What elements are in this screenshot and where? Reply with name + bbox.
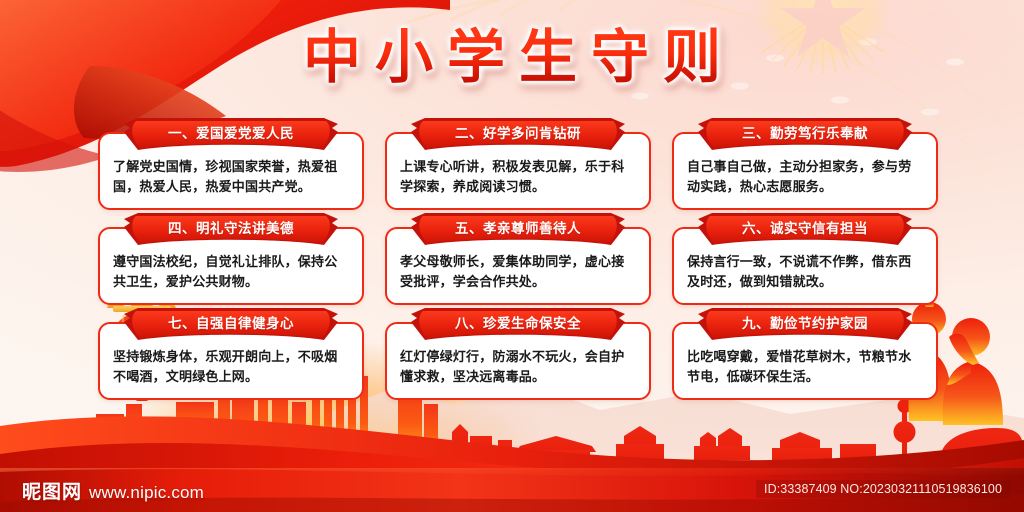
rule-card-8[interactable]: 八、珍爱生命保安全 红灯停绿灯行，防溺水不玩火，会自护懂求救，坚决远离毒品。 [385,322,651,400]
rule-card-6[interactable]: 六、诚实守信有担当 保持言行一致，不说谎不作弊，借东西及时还，做到知错就改。 [672,227,938,305]
poster-title-container: 中小学生守则 [0,24,1024,96]
rule-banner-1: 一、爱国爱党爱人民 [136,121,326,147]
rule-body-4: 遵守国法校纪，自觉礼让排队，保持公共卫生，爱护公共财物。 [113,253,349,293]
rule-body-1: 了解党史国情，珍视国家荣誉，热爱祖国，热爱人民，热爱中国共产党。 [113,158,349,198]
rule-card-2[interactable]: 二、好学多问肯钻研 上课专心听讲，积极发表见解，乐于科学探索，养成阅读习惯。 [385,132,651,210]
rule-card-5[interactable]: 五、孝亲尊师善待人 孝父母敬师长，爱集体助同学，虚心接受批评，学会合作共处。 [385,227,651,305]
rule-body-8: 红灯停绿灯行，防溺水不玩火，会自护懂求救，坚决远离毒品。 [400,348,636,388]
site-brand[interactable]: 昵图网 www.nipic.com [22,477,204,504]
page-title: 中小学生守则 [279,24,745,96]
brand-url: www.nipic.com [89,483,204,503]
poster-canvas: 中小学生守则 一、爱国爱党爱人民 了解党史国情，珍视国家荣誉，热爱祖国，热爱人民… [0,0,1024,512]
rule-banner-9: 九、勤俭节约护家园 [710,311,900,337]
rule-heading-5: 五、孝亲尊师善待人 [423,216,613,242]
rule-body-5: 孝父母敬师长，爱集体助同学，虚心接受批评，学会合作共处。 [400,253,636,293]
rule-card-3[interactable]: 三、勤劳笃行乐奉献 自己事自己做，主动分担家务，参与劳动实践，热心志愿服务。 [672,132,938,210]
rule-card-4[interactable]: 四、明礼守法讲美德 遵守国法校纪，自觉礼让排队，保持公共卫生，爱护公共财物。 [98,227,364,305]
rule-heading-3: 三、勤劳笃行乐奉献 [710,121,900,147]
rule-body-9: 比吃喝穿戴，爱惜花草树木，节粮节水节电，低碳环保生活。 [687,348,923,388]
rule-banner-3: 三、勤劳笃行乐奉献 [710,121,900,147]
rule-banner-2: 二、好学多问肯钻研 [423,121,613,147]
rule-banner-6: 六、诚实守信有担当 [710,216,900,242]
rule-body-6: 保持言行一致，不说谎不作弊，借东西及时还，做到知错就改。 [687,253,923,293]
brand-name-cn: 昵图网 [22,477,82,504]
rule-banner-4: 四、明礼守法讲美德 [136,216,326,242]
rule-heading-8: 八、珍爱生命保安全 [423,311,613,337]
footer-bar: 昵图网 www.nipic.com ID:33387409 NO:2023032… [0,468,1024,512]
rule-heading-2: 二、好学多问肯钻研 [423,121,613,147]
rule-card-1[interactable]: 一、爱国爱党爱人民 了解党史国情，珍视国家荣誉，热爱祖国，热爱人民，热爱中国共产… [98,132,364,210]
rules-grid: 一、爱国爱党爱人民 了解党史国情，珍视国家荣誉，热爱祖国，热爱人民，热爱中国共产… [98,118,938,403]
rule-card-7[interactable]: 七、自强自律健身心 坚持锻炼身体，乐观开朗向上，不吸烟不喝酒，文明绿色上网。 [98,322,364,400]
rule-body-2: 上课专心听讲，积极发表见解，乐于科学探索，养成阅读习惯。 [400,158,636,198]
rule-banner-7: 七、自强自律健身心 [136,311,326,337]
rule-banner-5: 五、孝亲尊师善待人 [423,216,613,242]
rule-card-9[interactable]: 九、勤俭节约护家园 比吃喝穿戴，爱惜花草树木，节粮节水节电，低碳环保生活。 [672,322,938,400]
rule-heading-7: 七、自强自律健身心 [136,311,326,337]
rule-body-7: 坚持锻炼身体，乐观开朗向上，不吸烟不喝酒，文明绿色上网。 [113,348,349,388]
rule-heading-1: 一、爱国爱党爱人民 [136,121,326,147]
rule-heading-4: 四、明礼守法讲美德 [136,216,326,242]
image-id-code: ID:33387409 NO:20230321110519836100 [756,480,1010,498]
rule-heading-6: 六、诚实守信有担当 [710,216,900,242]
rule-body-3: 自己事自己做，主动分担家务，参与劳动实践，热心志愿服务。 [687,158,923,198]
rule-banner-8: 八、珍爱生命保安全 [423,311,613,337]
rule-heading-9: 九、勤俭节约护家园 [710,311,900,337]
